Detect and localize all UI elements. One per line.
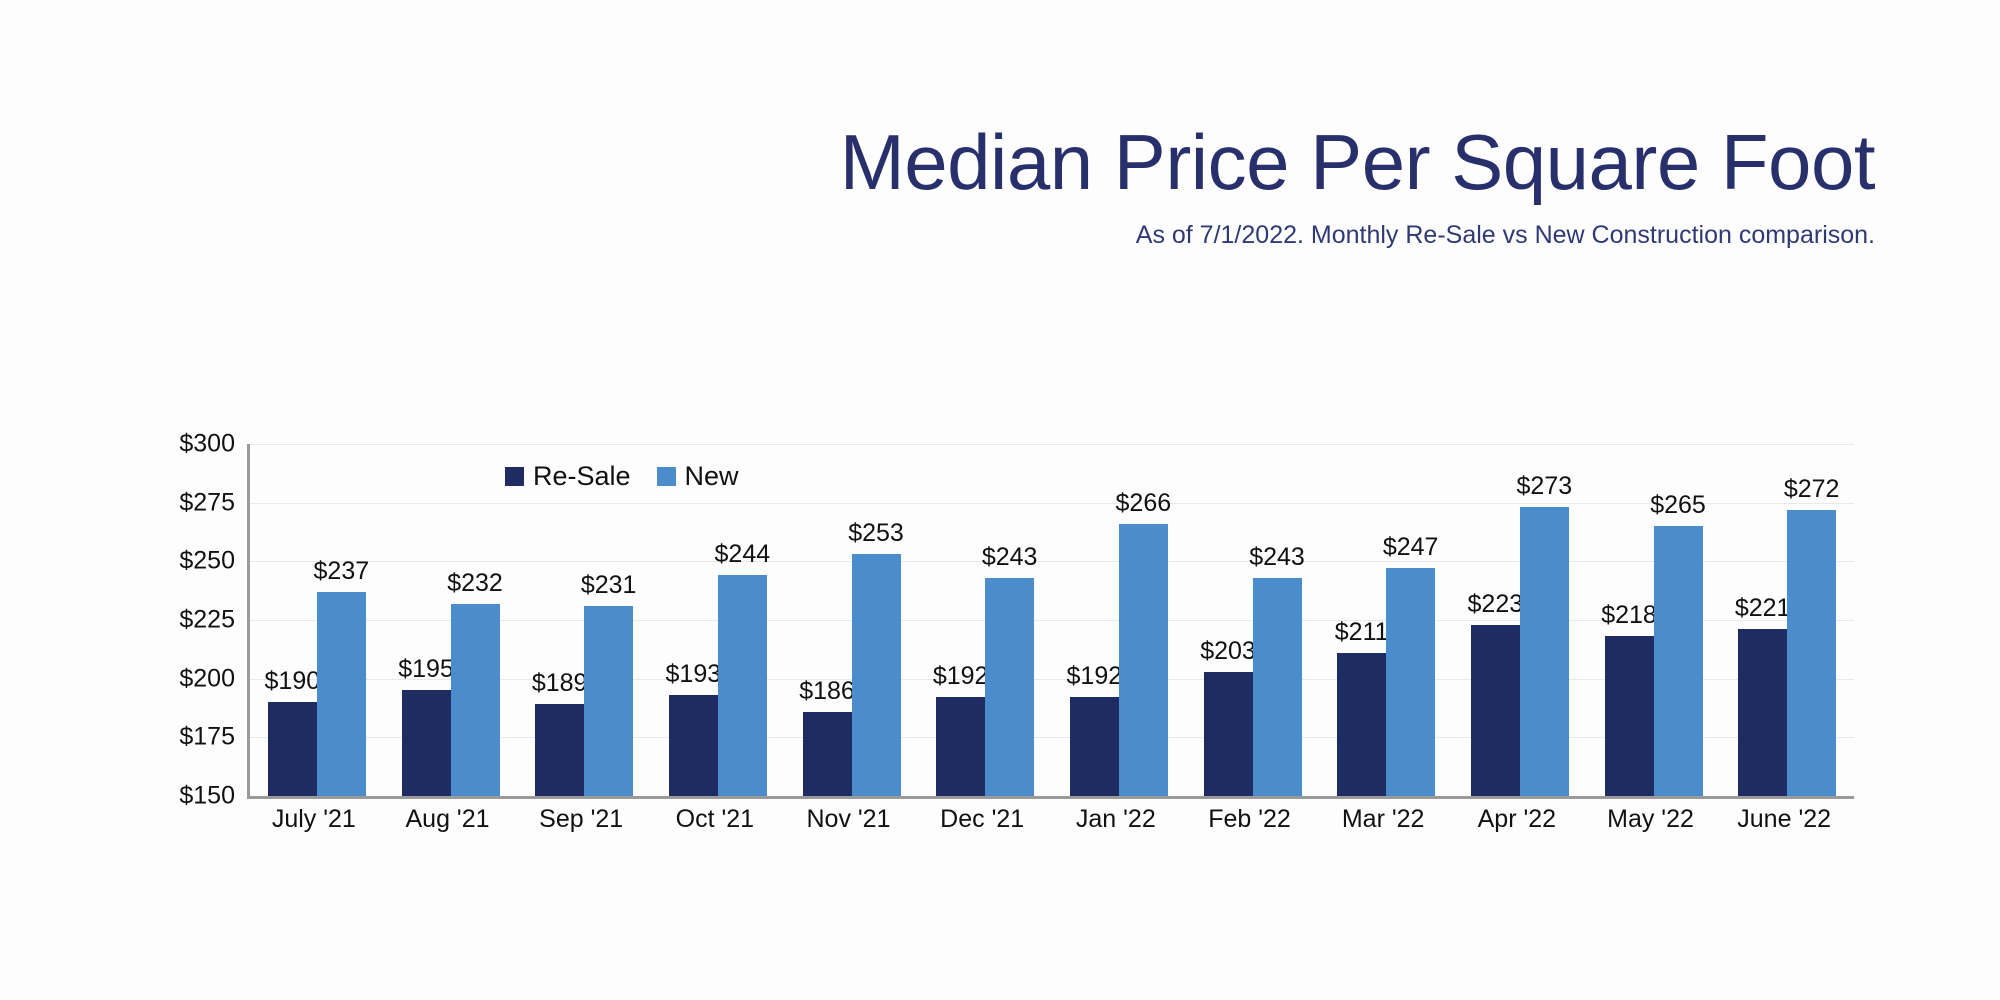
bar-resale[interactable] [1070, 697, 1119, 796]
bar-resale[interactable] [1605, 636, 1654, 796]
x-axis-tick-label: Dec '21 [940, 805, 1024, 834]
bar-resale[interactable] [936, 697, 985, 796]
bar-resale[interactable] [268, 702, 317, 796]
x-axis-tick-label: June '22 [1737, 805, 1831, 834]
x-axis-tick-label: Feb '22 [1208, 805, 1291, 834]
bar-value-label: $193 [666, 660, 722, 689]
x-axis-tick-label: May '22 [1607, 805, 1694, 834]
bar-group: $195$232 [402, 444, 500, 796]
bar-value-label: $189 [532, 669, 588, 698]
bar-value-label: $211 [1335, 618, 1389, 647]
plot-area: $190$237$195$232$189$231$193$244$186$253… [247, 444, 1854, 799]
y-axis-tick-label: $225 [179, 606, 235, 635]
bar-group: $189$231 [535, 444, 633, 796]
square-swatch-icon [505, 467, 524, 486]
gridline [250, 796, 1854, 797]
x-axis-tick-label: Mar '22 [1342, 805, 1425, 834]
y-axis-tick-label: $175 [179, 723, 235, 752]
bar-value-label: $195 [398, 655, 454, 684]
bar-group: $223$273 [1471, 444, 1569, 796]
bar-new[interactable] [1787, 510, 1836, 796]
bar-value-label: $237 [314, 557, 370, 586]
bar-group: $190$237 [268, 444, 366, 796]
x-axis-tick-label: Sep '21 [539, 805, 623, 834]
chart-subtitle: As of 7/1/2022. Monthly Re-Sale vs New C… [0, 220, 1875, 250]
bar-group: $221$272 [1738, 444, 1836, 796]
bar-value-label: $203 [1200, 637, 1256, 666]
bar-new[interactable] [718, 575, 767, 796]
legend-item-label: Re-Sale [533, 461, 631, 492]
bar-group: $211$247 [1337, 444, 1435, 796]
y-axis-tick-label: $250 [179, 547, 235, 576]
bar-new[interactable] [1386, 568, 1435, 796]
bar-new[interactable] [451, 604, 500, 796]
x-axis-tick-label: Aug '21 [405, 805, 489, 834]
bar-value-label: $265 [1650, 491, 1706, 520]
bar-resale[interactable] [803, 712, 852, 796]
bar-value-label: $272 [1784, 475, 1840, 504]
bar-new[interactable] [1119, 524, 1168, 796]
x-axis: July '21Aug '21Sep '21Oct '21Nov '21Dec … [247, 805, 1851, 845]
bar-value-label: $243 [982, 543, 1038, 572]
bar-new[interactable] [1253, 578, 1302, 796]
bar-value-label: $231 [581, 571, 637, 600]
x-axis-tick-label: Oct '21 [676, 805, 754, 834]
bar-resale[interactable] [535, 704, 584, 796]
y-axis-tick-label: $150 [179, 782, 235, 811]
bar-resale[interactable] [669, 695, 718, 796]
bar-resale[interactable] [1337, 653, 1386, 796]
x-axis-tick-label: July '21 [272, 805, 356, 834]
bar-value-label: $273 [1517, 472, 1573, 501]
x-axis-tick-label: Jan '22 [1076, 805, 1156, 834]
bar-value-label: $192 [1067, 662, 1123, 691]
bar-group: $186$253 [803, 444, 901, 796]
bar-resale[interactable] [1738, 629, 1787, 796]
y-axis-tick-label: $275 [179, 488, 235, 517]
bar-value-label: $223 [1468, 590, 1524, 619]
bar-group: $193$244 [669, 444, 767, 796]
bar-resale[interactable] [402, 690, 451, 796]
bar-new[interactable] [1520, 507, 1569, 796]
bar-resale[interactable] [1204, 672, 1253, 796]
bar-resale[interactable] [1471, 625, 1520, 796]
bar-group: $192$243 [936, 444, 1034, 796]
legend-item[interactable]: Re-Sale [505, 461, 631, 492]
bars-layer: $190$237$195$232$189$231$193$244$186$253… [250, 444, 1854, 796]
y-axis-tick-label: $200 [179, 664, 235, 693]
bar-value-label: $190 [265, 667, 321, 696]
bar-value-label: $253 [848, 519, 904, 548]
legend-item[interactable]: New [657, 461, 739, 492]
x-axis-tick-label: Nov '21 [807, 805, 891, 834]
chart-legend: Re-SaleNew [505, 461, 739, 492]
bar-new[interactable] [1654, 526, 1703, 796]
square-swatch-icon [657, 467, 676, 486]
bar-group: $192$266 [1070, 444, 1168, 796]
bar-value-label: $247 [1383, 533, 1439, 562]
bar-value-label: $186 [799, 677, 855, 706]
bar-new[interactable] [317, 592, 366, 796]
y-axis: $300$275$250$225$200$175$150 [120, 444, 235, 796]
bar-new[interactable] [985, 578, 1034, 796]
bar-value-label: $244 [715, 540, 771, 569]
bar-value-label: $192 [933, 662, 989, 691]
chart-container: Median Price Per Square Foot As of 7/1/2… [0, 0, 2000, 1000]
bar-value-label: $218 [1601, 601, 1657, 630]
bar-value-label: $266 [1116, 489, 1172, 518]
bar-new[interactable] [584, 606, 633, 796]
bar-value-label: $232 [447, 569, 503, 598]
bar-group: $218$265 [1605, 444, 1703, 796]
legend-item-label: New [685, 461, 739, 492]
chart-header: Median Price Per Square Foot As of 7/1/2… [0, 120, 1875, 250]
bar-new[interactable] [852, 554, 901, 796]
bar-value-label: $243 [1249, 543, 1305, 572]
y-axis-tick-label: $300 [179, 430, 235, 459]
bar-group: $203$243 [1204, 444, 1302, 796]
page-title: Median Price Per Square Foot [0, 120, 1875, 204]
x-axis-tick-label: Apr '22 [1478, 805, 1556, 834]
bar-value-label: $221 [1735, 594, 1791, 623]
